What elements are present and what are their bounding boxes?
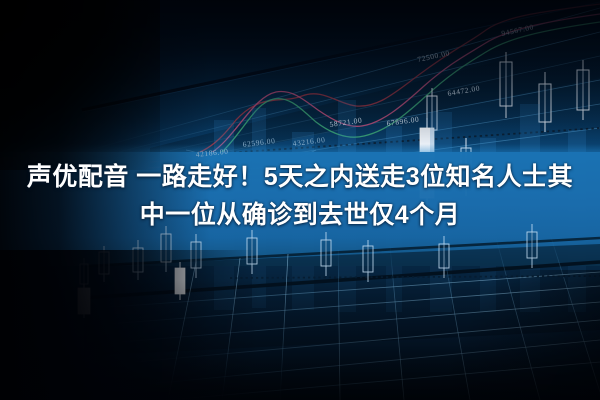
headline-text: 声优配音 一路走好！5天之内送走3位知名人士其 中一位从确诊到去世仅4个月	[0, 158, 600, 234]
headline-line-1: 声优配音 一路走好！5天之内送走3位知名人士其	[8, 158, 592, 196]
banner-image: 94567.00 72500.00 64472.00 67896.00 5872…	[0, 0, 600, 400]
vignette-right-lower	[420, 270, 600, 400]
vignette-top-left	[0, 0, 160, 170]
headline-line-2: 中一位从确诊到去世仅4个月	[8, 196, 592, 234]
vignette-left-lower	[0, 250, 260, 400]
